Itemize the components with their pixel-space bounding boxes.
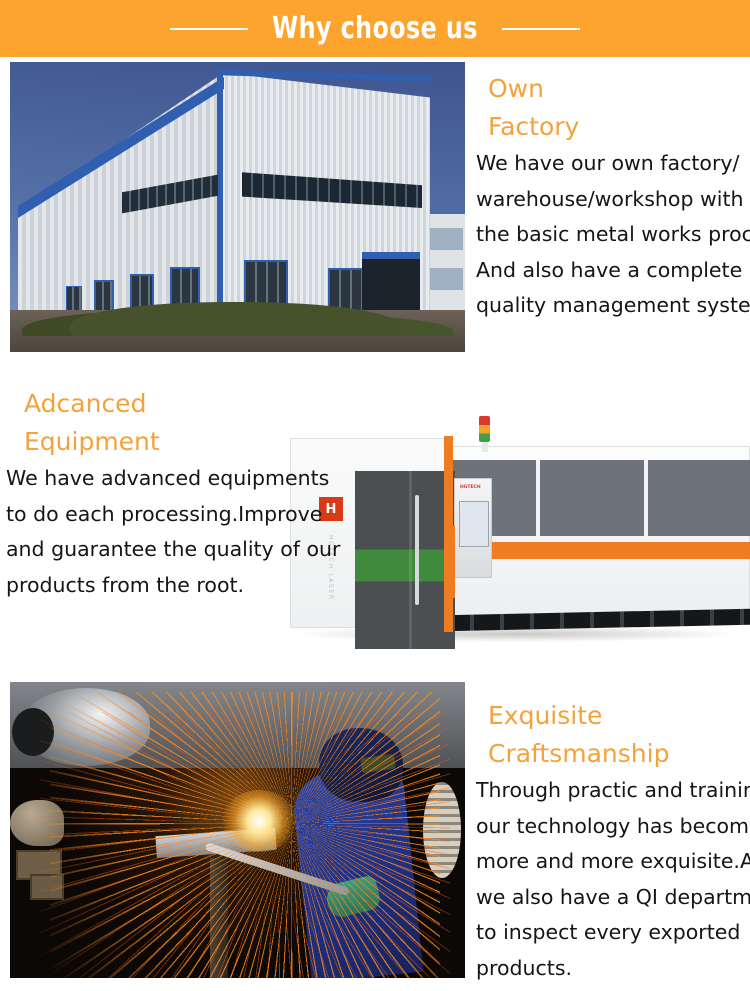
advanced-equipment-body-line-3: and guarantee the quality of our (6, 532, 326, 568)
factory-entrance (362, 252, 420, 318)
machine-hmi-console: HGTECH (454, 478, 492, 578)
section-banner: Why choose us (0, 0, 750, 57)
craftsmanship-body-line-6: products. (476, 951, 750, 987)
own-factory-heading-line-1: Own (476, 70, 750, 108)
advanced-equipment-body-line-1: We have advanced equipments (6, 461, 326, 497)
advanced-equipment-body-line-2: to do each processing.Improve (6, 497, 326, 533)
own-factory-body-line-2: warehouse/workshop with (476, 182, 750, 218)
advanced-equipment-body-line-4: products from the root. (6, 568, 326, 604)
own-factory-heading-line-2: Factory (476, 108, 750, 146)
advanced-equipment-heading-line-2: Equipment (6, 423, 326, 461)
craftsmanship-heading-line-1: Exquisite (476, 697, 750, 735)
advanced-equipment-heading-line-1: Adcanced (6, 385, 326, 423)
craftsmanship-body-line-4: we also have a QI department (476, 880, 750, 916)
craftsmanship-body-line-5: to inspect every exported (476, 915, 750, 951)
banner-rule-right-icon (502, 28, 580, 30)
machine-door-handle (415, 495, 419, 605)
exquisite-craftsmanship-text-block: Exquisite Craftsmanship Through practic … (476, 697, 750, 986)
why-choose-us-page: Why choose us Own Factory We have our ow… (0, 0, 750, 991)
own-factory-text-block: Own Factory We have our own factory/ war… (476, 70, 750, 324)
console-support-arm (452, 526, 455, 598)
banner-rule-left-icon (170, 28, 248, 30)
building-corner-edge (217, 70, 223, 322)
craftsmanship-body-line-3: more and more exquisite.And (476, 844, 750, 880)
console-touch-screen (459, 501, 489, 547)
welding-sparks-photo (10, 682, 465, 978)
craftsmanship-body-line-2: our technology has become (476, 809, 750, 845)
craftsmanship-heading-line-2: Craftsmanship (476, 735, 750, 773)
craftsmanship-body-line-1: Through practic and training, (476, 773, 750, 809)
factory-building-photo (10, 62, 465, 352)
own-factory-body-line-3: the basic metal works process (476, 217, 750, 253)
own-factory-body-line-1: We have our own factory/ (476, 146, 750, 182)
own-factory-body-line-5: quality management system. (476, 288, 750, 324)
advanced-equipment-text-block: Adcanced Equipment We have advanced equi… (6, 385, 326, 603)
welding-arc-flash (222, 790, 296, 852)
laser-cutting-machine-photo: MARVEL6000-6022 H HGTECH LASER HGTECH (282, 408, 750, 660)
banner-title: Why choose us (272, 11, 478, 46)
own-factory-body-line-4: And also have a complete ISO (476, 253, 750, 289)
console-brand-logo: HGTECH (460, 485, 481, 490)
machine-enclosure-door (355, 471, 455, 649)
signal-tower-lamp-icon (479, 416, 490, 442)
